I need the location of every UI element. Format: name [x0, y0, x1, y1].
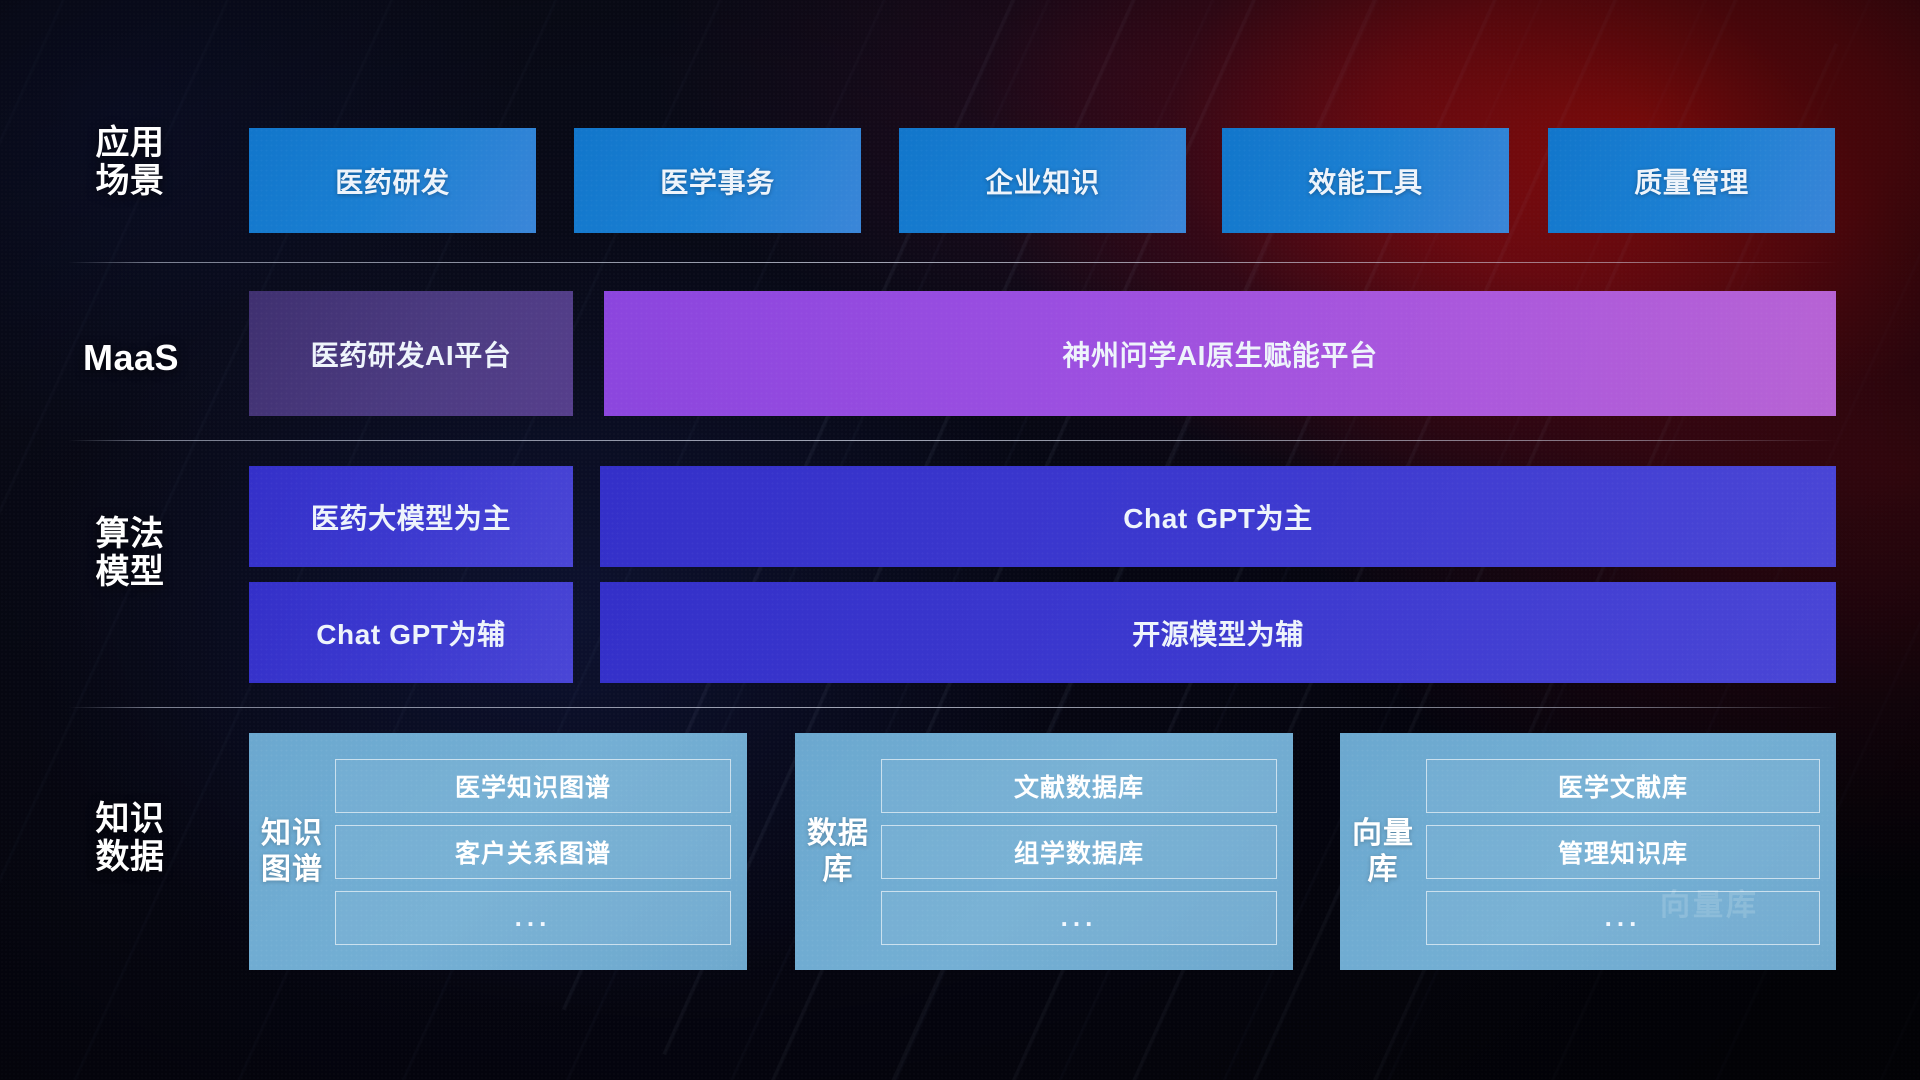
app-box-1-label: 医药研发	[335, 161, 449, 201]
app-box-2[interactable]: 医学事务	[574, 128, 861, 233]
divider-2	[68, 440, 1838, 441]
knowledge-panel-knowledge-graph[interactable]: 知识图谱 医学知识图谱 客户关系图谱 ...	[249, 733, 747, 970]
row-label-algorithm-model: 算法 模型	[72, 515, 188, 592]
algo-right-box-1[interactable]: Chat GPT为主	[600, 466, 1836, 567]
app-box-3[interactable]: 企业知识	[899, 128, 1186, 233]
row-label-maas: MaaS	[64, 338, 198, 379]
knowledge-panel-2-item-3[interactable]: ...	[881, 891, 1277, 945]
maas-left-box-label: 医药研发AI平台	[311, 334, 512, 374]
app-box-3-label: 企业知识	[985, 161, 1099, 201]
app-box-4[interactable]: 效能工具	[1222, 128, 1509, 233]
algo-left-box-1-label: 医药大模型为主	[311, 497, 511, 537]
knowledge-panel-3-item-1[interactable]: 医学文献库	[1426, 759, 1820, 813]
maas-platform-bar-label: 神州问学AI原生赋能平台	[1062, 334, 1377, 374]
knowledge-panel-3-side-label: 向量库	[1340, 816, 1426, 887]
app-box-4-label: 效能工具	[1308, 161, 1422, 201]
knowledge-panel-3-item-3[interactable]: ...	[1426, 891, 1820, 945]
row-label-application-scenarios: 应用 场景	[72, 124, 188, 201]
app-box-1[interactable]: 医药研发	[249, 128, 536, 233]
algo-right-box-1-label: Chat GPT为主	[1123, 497, 1313, 537]
divider-3	[68, 707, 1838, 708]
architecture-diagram: 应用 场景 医药研发 医学事务 企业知识 效能工具 质量管理 MaaS 医药研发…	[0, 0, 1920, 1080]
divider-1	[68, 262, 1838, 263]
row-label-knowledge-data: 知识 数据	[72, 800, 188, 877]
app-box-2-label: 医学事务	[660, 161, 774, 201]
maas-left-box[interactable]: 医药研发AI平台	[249, 291, 573, 416]
algo-left-box-1[interactable]: 医药大模型为主	[249, 466, 573, 567]
knowledge-panel-2-side-label: 数据库	[795, 816, 881, 887]
knowledge-panel-1-item-2[interactable]: 客户关系图谱	[335, 825, 731, 879]
app-box-5-label: 质量管理	[1634, 161, 1748, 201]
algo-right-box-2[interactable]: 开源模型为辅	[600, 582, 1836, 683]
knowledge-panel-1-item-1[interactable]: 医学知识图谱	[335, 759, 731, 813]
knowledge-panel-2-item-2[interactable]: 组学数据库	[881, 825, 1277, 879]
knowledge-panel-1-side-label: 知识图谱	[249, 816, 335, 887]
knowledge-panel-vector-store[interactable]: 向量库 医学文献库 管理知识库 ...	[1340, 733, 1836, 970]
algo-right-box-2-label: 开源模型为辅	[1132, 613, 1304, 653]
algo-left-box-2[interactable]: Chat GPT为辅	[249, 582, 573, 683]
knowledge-panel-3-item-2[interactable]: 管理知识库	[1426, 825, 1820, 879]
knowledge-panel-database[interactable]: 数据库 文献数据库 组学数据库 ...	[795, 733, 1293, 970]
knowledge-panel-2-item-1[interactable]: 文献数据库	[881, 759, 1277, 813]
knowledge-panel-1-item-3[interactable]: ...	[335, 891, 731, 945]
app-box-5[interactable]: 质量管理	[1548, 128, 1835, 233]
maas-platform-bar[interactable]: 神州问学AI原生赋能平台	[604, 291, 1836, 416]
algo-left-box-2-label: Chat GPT为辅	[316, 613, 506, 653]
